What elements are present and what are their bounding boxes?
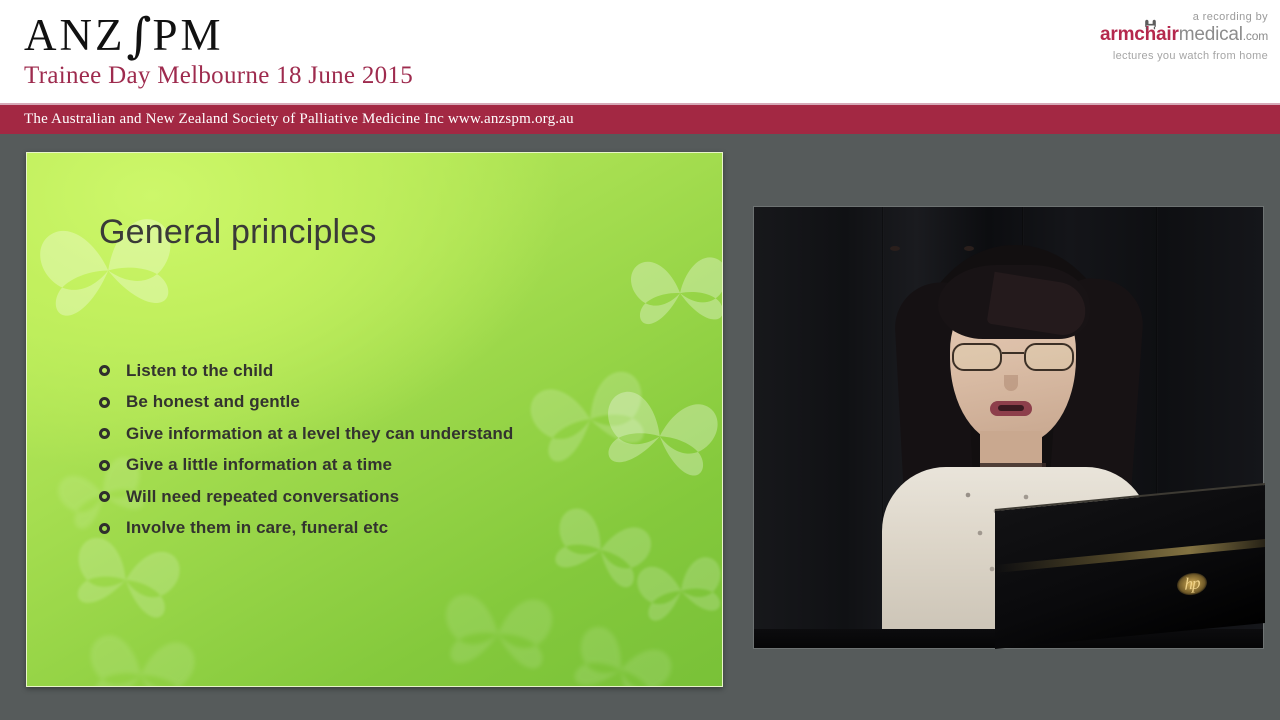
anzspm-logo: ANZ∫PM Trainee Day Melbourne 18 June 201… [24, 8, 413, 91]
eye-left [890, 246, 900, 251]
slide-canvas: General principles Listen to the child B… [27, 153, 722, 686]
glasses-bridge [1002, 352, 1024, 354]
bullet-ring-icon [99, 397, 110, 408]
list-item-label: Give information at a level they can und… [126, 424, 513, 444]
logo-text-left: ANZ [24, 10, 125, 60]
butterfly-icon [622, 241, 722, 342]
list-item-label: Will need repeated conversations [126, 487, 399, 507]
nose [1004, 375, 1018, 391]
slide-panel[interactable]: General principles Listen to the child B… [26, 152, 723, 687]
list-item: Listen to the child [99, 355, 699, 387]
slide-bullet-list: Listen to the child Be honest and gentle… [99, 355, 699, 544]
brand-name-bold: armchair [1100, 24, 1179, 45]
armchair-icon [1143, 18, 1158, 31]
list-item: Be honest and gentle [99, 387, 699, 419]
butterfly-icon [627, 541, 722, 638]
brand-name-light: medical [1179, 24, 1243, 45]
brand-name-tld: .com [1243, 29, 1268, 43]
list-item-label: Listen to the child [126, 361, 273, 381]
society-banner: The Australian and New Zealand Society o… [0, 103, 1280, 134]
list-item-label: Give a little information at a time [126, 455, 392, 475]
list-item-label: Be honest and gentle [126, 392, 300, 412]
mouth-opening [998, 405, 1024, 411]
bullet-ring-icon [99, 365, 110, 376]
laptop: hp [995, 509, 1265, 649]
bullet-ring-icon [99, 460, 110, 471]
bullet-ring-icon [99, 491, 110, 502]
butterfly-icon [76, 617, 206, 686]
society-banner-text: The Australian and New Zealand Society o… [24, 111, 574, 128]
list-item: Involve them in care, funeral etc [99, 513, 699, 545]
list-item: Give a little information at a time [99, 450, 699, 482]
page-header: ANZ∫PM Trainee Day Melbourne 18 June 201… [0, 0, 1280, 103]
brand-tagline-bottom: lectures you watch from home [1078, 49, 1268, 64]
slide-title: General principles [99, 213, 377, 252]
logo-integral-icon: ∫ [126, 8, 151, 64]
logo-wordmark: ANZ∫PM [24, 8, 413, 61]
bullet-ring-icon [99, 428, 110, 439]
presentation-viewer: ANZ∫PM Trainee Day Melbourne 18 June 201… [0, 0, 1280, 720]
lens-left [952, 343, 1002, 371]
bullet-ring-icon [99, 523, 110, 534]
list-item: Will need repeated conversations [99, 481, 699, 513]
event-subtitle: Trainee Day Melbourne 18 June 2015 [24, 61, 413, 91]
armchair-medical-branding[interactable]: a recording by armchairmedical.com lectu… [1078, 10, 1268, 64]
brand-name: armchairmedical.com [1078, 24, 1268, 47]
eye-right [964, 246, 974, 251]
brand-tagline-top: a recording by [1078, 10, 1268, 24]
glasses-icon [951, 343, 1077, 373]
list-item: Give information at a level they can und… [99, 418, 699, 450]
lens-right [1024, 343, 1074, 371]
list-item-label: Involve them in care, funeral etc [126, 518, 388, 538]
butterfly-icon [434, 577, 563, 686]
logo-text-right: PM [153, 10, 224, 60]
